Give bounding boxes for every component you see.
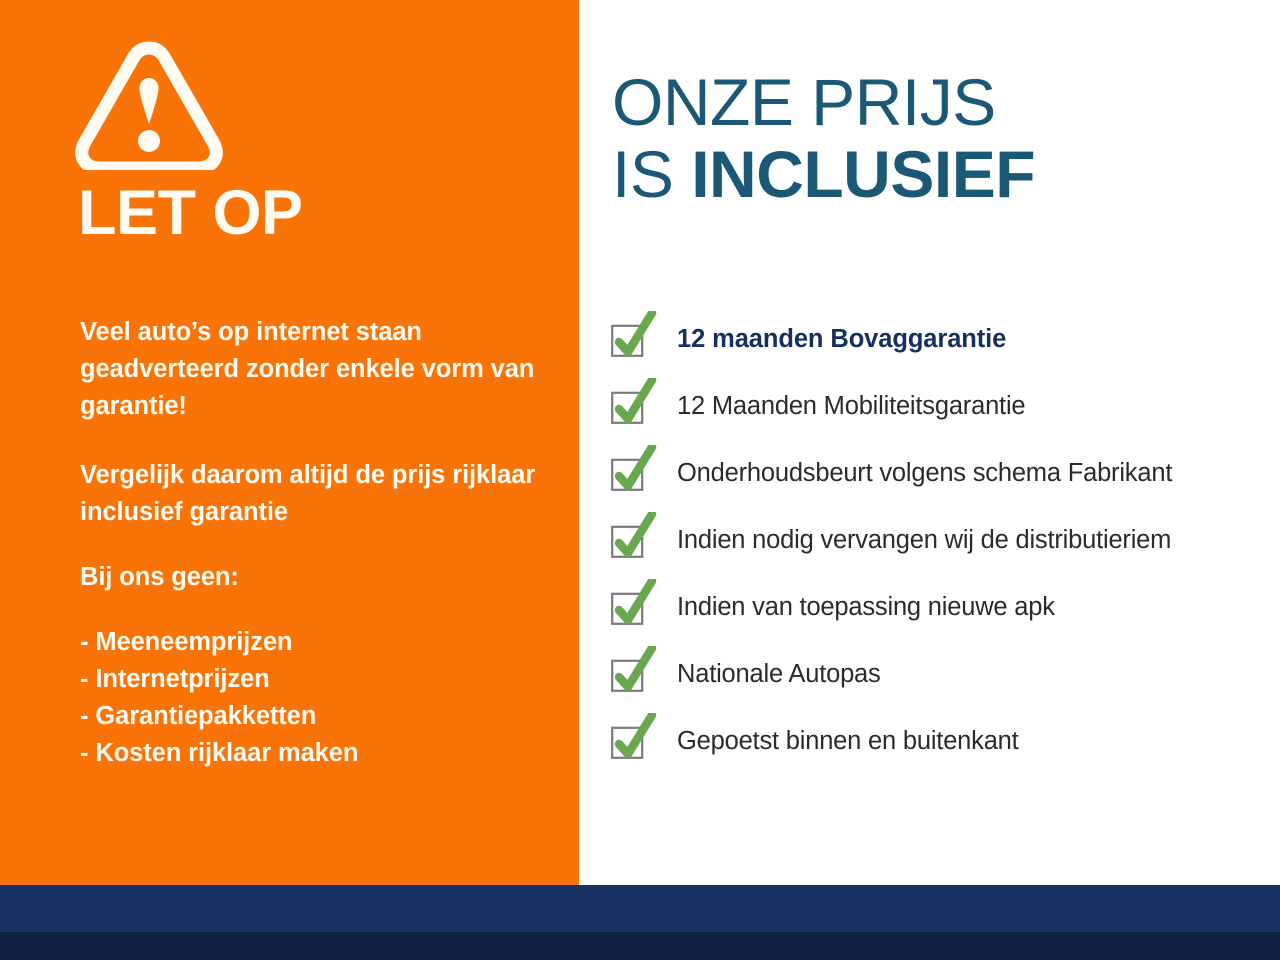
headline-line-2-bold: INCLUSIEF: [691, 137, 1035, 211]
footer-bar-navy: [0, 885, 1280, 932]
warning-paragraph-3: Bij ons geen:: [80, 559, 550, 596]
list-item: - Kosten rijklaar maken: [80, 735, 550, 772]
checklist-item: Nationale Autopas: [611, 650, 1271, 717]
checklist-item: Onderhoudsbeurt volgens schema Fabrikant: [611, 449, 1271, 516]
list-item: - Garantiepakketten: [80, 698, 550, 735]
promo-banner: LET OP Veel auto’s op internet staan gea…: [0, 0, 1280, 960]
checklist-item-label: Nationale Autopas: [677, 657, 881, 691]
checkbox-checked-icon: [611, 727, 643, 759]
exclusion-list: - Meeneemprijzen - Internetprijzen - Gar…: [80, 624, 550, 772]
checkbox-checked-icon: [611, 526, 643, 558]
checklist-item-label: Indien van toepassing nieuwe apk: [677, 590, 1055, 624]
checklist-item-label: Onderhoudsbeurt volgens schema Fabrikant: [677, 456, 1172, 490]
checklist-item-label: 12 maanden Bovaggarantie: [677, 322, 1006, 356]
checkbox-checked-icon: [611, 325, 643, 357]
list-item: - Meeneemprijzen: [80, 624, 550, 661]
checklist-item-label: Indien nodig vervangen wij de distributi…: [677, 523, 1171, 557]
checklist-item-label: 12 Maanden Mobiliteitsgarantie: [677, 389, 1025, 423]
warning-paragraph-2: Vergelijk daarom altijd de prijs rijklaa…: [80, 457, 550, 531]
checkbox-checked-icon: [611, 392, 643, 424]
checkbox-checked-icon: [611, 660, 643, 692]
headline-line-1: ONZE PRIJS: [612, 65, 996, 139]
checklist-item: Gepoetst binnen en buitenkant: [611, 717, 1271, 784]
warning-triangle-icon: [73, 38, 225, 170]
checkbox-checked-icon: [611, 459, 643, 491]
checklist-item: Indien van toepassing nieuwe apk: [611, 583, 1271, 650]
page-title: LET OP: [78, 182, 303, 245]
checklist-item: 12 Maanden Mobiliteitsgarantie: [611, 382, 1271, 449]
checklist-item: Indien nodig vervangen wij de distributi…: [611, 516, 1271, 583]
inclusions-checklist: 12 maanden Bovaggarantie 12 Maanden Mobi…: [611, 315, 1271, 784]
inclusive-panel: ONZE PRIJS IS INCLUSIEF 12 maanden Bovag…: [579, 0, 1280, 885]
warning-paragraph-1: Veel auto’s op internet staan geadvertee…: [80, 314, 550, 425]
warning-body: Veel auto’s op internet staan geadvertee…: [80, 314, 550, 772]
checklist-item: 12 maanden Bovaggarantie: [611, 315, 1271, 382]
list-item: - Internetprijzen: [80, 661, 550, 698]
headline: ONZE PRIJS IS INCLUSIEF: [612, 66, 1035, 210]
headline-line-2: IS INCLUSIEF: [612, 138, 1035, 210]
warning-panel: LET OP Veel auto’s op internet staan gea…: [0, 0, 579, 885]
headline-line-2-light: IS: [612, 137, 691, 211]
checkbox-checked-icon: [611, 593, 643, 625]
checklist-item-label: Gepoetst binnen en buitenkant: [677, 724, 1019, 758]
footer-bar-navy-dark: [0, 932, 1280, 960]
